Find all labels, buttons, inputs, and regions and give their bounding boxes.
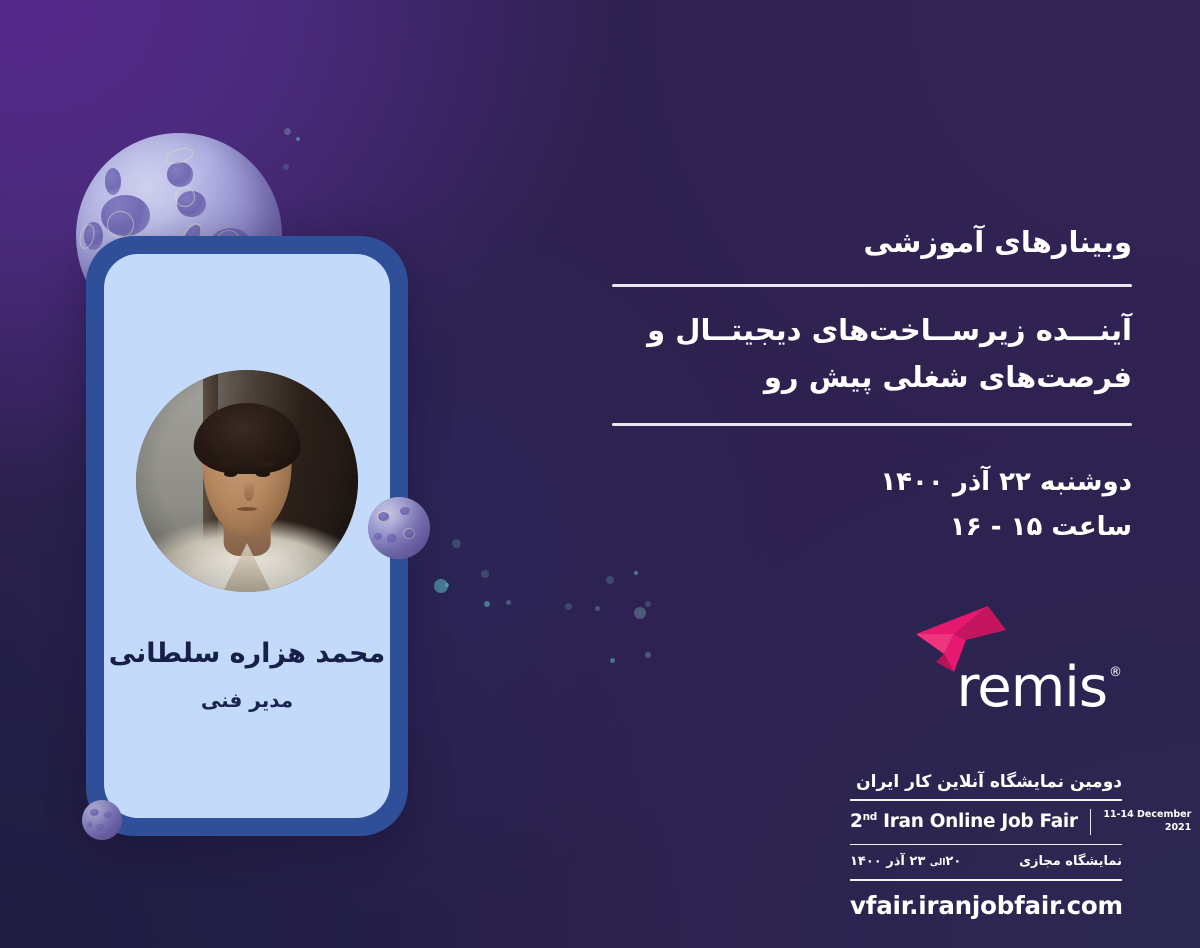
particle-dot: [296, 137, 300, 141]
sponsor-wordmark: remis ®: [956, 661, 1122, 714]
fair-divider-3: [850, 879, 1122, 881]
particle-dot: [565, 603, 572, 610]
particle-dot: [595, 606, 600, 611]
fair-dates-en-line-1: 11-14 December: [1103, 809, 1191, 822]
poster-text-column: وبینارهای آموزشی آینـــده زیرســاخت‌های …: [612, 224, 1132, 551]
fair-ordinal-number: 2: [850, 811, 863, 832]
fair-ordinal-suffix: nd: [863, 811, 877, 823]
particle-dot: [506, 600, 511, 605]
webinar-title-line-2: فرصت‌های شغلی پیش رو: [612, 354, 1132, 401]
avatar: [136, 370, 358, 592]
portrait-vignette: [136, 370, 358, 592]
moon-small-icon: [368, 497, 430, 559]
webinar-schedule: دوشنبه ۲۲ آذر ۱۴۰۰ ساعت ۱۵ - ۱۶: [612, 460, 1132, 551]
poster-canvas: محمد هزاره سلطانی مدیر فنی وبینارهای آمو…: [0, 0, 1200, 948]
webinar-kicker: وبینارهای آموزشی: [612, 224, 1132, 262]
particle-dot: [481, 570, 489, 578]
fair-lockup: دومین نمایشگاه آنلاین کار ایران 2nd Iran…: [850, 771, 1122, 920]
particle-dot: [645, 601, 651, 607]
particle-dot: [634, 571, 638, 575]
fair-divider-1: [850, 799, 1122, 801]
fair-dates-fa-to: ۲۳ آذر ۱۴۰۰: [850, 854, 925, 869]
fair-url[interactable]: vfair.iranjobfair.com: [850, 887, 1122, 920]
particle-dot: [283, 164, 289, 170]
webinar-title-line-1: آینـــده زیرســاخت‌های دیجیتــال و: [612, 307, 1132, 354]
fair-mode-fa: نمایشگاه مجازی: [1019, 854, 1122, 869]
fair-dates-fa: ۲۰الی ۲۳ آذر ۱۴۰۰: [850, 854, 961, 869]
fair-dates-fa-from: ۲۰: [945, 854, 961, 869]
fair-separator: [1090, 809, 1092, 835]
particle-dot: [452, 539, 461, 548]
fair-dates-fa-joiner: الی: [930, 858, 946, 868]
speaker-info: محمد هزاره سلطانی مدیر فنی: [104, 636, 390, 712]
speaker-role: مدیر فنی: [104, 688, 390, 712]
fair-divider-2: [850, 844, 1122, 846]
fair-title-en: 2nd Iran Online Job Fair: [850, 811, 1078, 832]
schedule-time: ساعت ۱۵ - ۱۶: [612, 505, 1132, 551]
fair-dates-en: 11-14 December 2021: [1103, 809, 1191, 835]
registered-trademark-icon: ®: [1109, 665, 1122, 680]
fair-dates-en-line-2: 2021: [1103, 822, 1191, 835]
particle-dot: [645, 652, 651, 658]
particle-dot: [606, 576, 614, 584]
sponsor-logo: remis ®: [912, 604, 1122, 714]
divider-top: [612, 284, 1132, 287]
webinar-title: آینـــده زیرســاخت‌های دیجیتــال و فرصت‌…: [612, 307, 1132, 401]
particle-dot: [445, 583, 449, 587]
speaker-name: محمد هزاره سلطانی: [104, 636, 390, 672]
fair-row-english: 2nd Iran Online Job Fair 11-14 December …: [850, 807, 1122, 838]
speaker-card-phone-frame: محمد هزاره سلطانی مدیر فنی: [86, 236, 408, 836]
sponsor-name: remis: [956, 661, 1107, 714]
fair-row-farsi: نمایشگاه مجازی ۲۰الی ۲۳ آذر ۱۴۰۰: [850, 851, 1122, 873]
particle-dot: [284, 128, 291, 135]
moon-tiny-icon: [82, 800, 122, 840]
speaker-card-screen: محمد هزاره سلطانی مدیر فنی: [104, 254, 390, 818]
schedule-date: دوشنبه ۲۲ آذر ۱۴۰۰: [612, 460, 1132, 506]
fair-title-fa: دومین نمایشگاه آنلاین کار ایران: [850, 771, 1122, 793]
particle-dot: [484, 601, 490, 607]
particle-dot: [634, 607, 646, 619]
fair-title-en-text: Iran Online Job Fair: [883, 811, 1078, 832]
divider-bottom: [612, 423, 1132, 426]
particle-dot: [610, 658, 615, 663]
